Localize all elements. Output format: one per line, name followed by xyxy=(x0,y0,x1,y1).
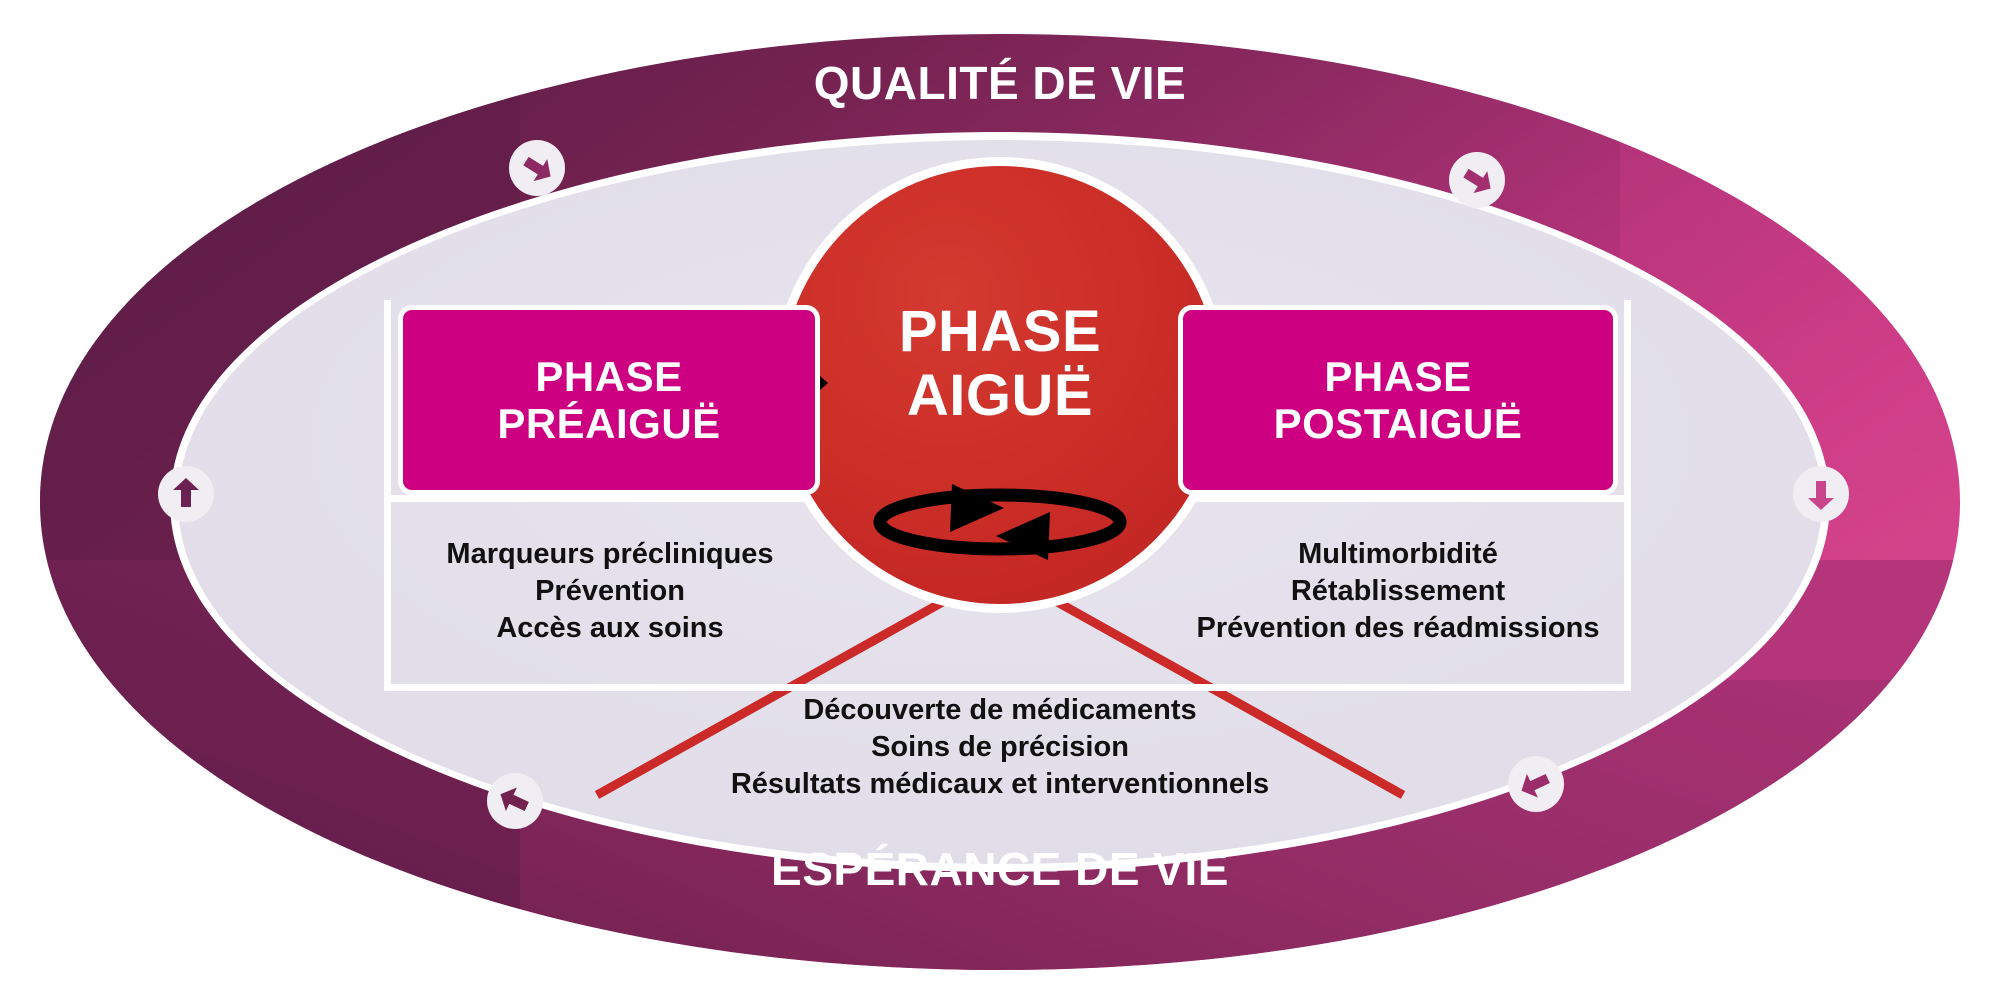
phase-acute-label-line2: AIGUË xyxy=(907,363,1093,428)
ring-arrow-top-right xyxy=(1449,152,1505,208)
ring-label-life-expectancy: ESPÉRANCE DE VIE xyxy=(0,842,2000,896)
ring-arrow-bottom-right xyxy=(1508,756,1564,812)
ring-arrow-left xyxy=(158,466,214,522)
phase-acute-label[interactable]: PHASE AIGUË xyxy=(800,300,1200,428)
phase-acute-label-line1: PHASE xyxy=(899,299,1101,364)
ring-label-quality-of-life: QUALITÉ DE VIE xyxy=(0,56,2000,110)
phase-acute-details: Découverte de médicaments Soins de préci… xyxy=(660,692,1340,803)
phase-postacute-label-line2: POSTAIGUË xyxy=(1274,400,1523,447)
phase-postacute-box[interactable]: PHASE POSTAIGUË xyxy=(1178,305,1618,495)
ring-arrow-top-left xyxy=(509,140,565,196)
ring-arrow-right xyxy=(1793,466,1849,522)
phase-postacute-details: Multimorbidité Rétablissement Prévention… xyxy=(1168,536,1628,647)
detail-item: Multimorbidité xyxy=(1168,536,1628,573)
detail-item: Découverte de médicaments xyxy=(660,692,1340,729)
detail-item: Prévention xyxy=(400,573,820,610)
detail-item: Marqueurs précliniques xyxy=(400,536,820,573)
detail-item: Soins de précision xyxy=(660,729,1340,766)
diagram-canvas: QUALITÉ DE VIE ESPÉRANCE DE VIE PHASE PR… xyxy=(0,0,2000,1004)
phase-preacute-label-line1: PHASE xyxy=(535,353,682,400)
detail-item: Accès aux soins xyxy=(400,610,820,647)
phase-preacute-details: Marqueurs précliniques Prévention Accès … xyxy=(400,536,820,647)
detail-item: Rétablissement xyxy=(1168,573,1628,610)
detail-item: Prévention des réadmissions xyxy=(1168,610,1628,647)
detail-item: Résultats médicaux et interventionnels xyxy=(660,766,1340,803)
ring-arrow-bottom-left xyxy=(487,773,543,829)
phase-preacute-label-line2: PRÉAIGUË xyxy=(497,400,720,447)
phase-preacute-box[interactable]: PHASE PRÉAIGUË xyxy=(398,305,820,495)
phase-postacute-label-line1: PHASE xyxy=(1324,353,1471,400)
